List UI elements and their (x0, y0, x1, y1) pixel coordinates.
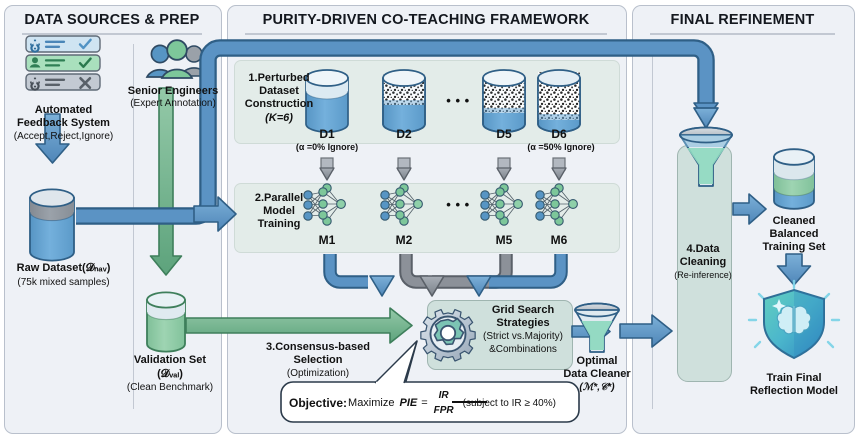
feedback-chip-1 (26, 36, 100, 52)
dataset-cylinder-d5 (483, 70, 525, 132)
cleaned-set-line3: Training Set (744, 241, 844, 254)
model-label-m1: M1 (297, 234, 357, 248)
dataset-cylinder-d6 (538, 70, 580, 132)
dataset-alpha-d6: (α =50% Ignore) (513, 142, 609, 152)
stage3-step: 3.Consensus-based (238, 341, 398, 354)
neural-net-icon-m5 (481, 184, 523, 225)
raw-dataset-sub: (75k mixed samples) (0, 277, 127, 289)
validation-set-cylinder-icon (147, 292, 185, 351)
data-cleaning-line2: Cleaning (670, 256, 736, 269)
data-cleaning-sub: (Re-inference) (664, 270, 742, 280)
stage3-line2: Selection (238, 354, 398, 367)
model-label-m2: M2 (374, 234, 434, 248)
objective-formula: Objective: Maximize PIE = IR FPR (subjec… (289, 390, 575, 416)
diagram-root: DATA SOURCES & PREP PURITY-DRIVEN CO-TEA… (0, 0, 857, 437)
dataset-alpha-d1: (α =0% Ignore) (279, 142, 375, 152)
model-ellipsis: • • • (434, 197, 482, 212)
feedback-chip-3 (26, 74, 100, 90)
objective-verb: Maximize (348, 397, 394, 409)
objective-constraint: (subject to IR ≥ 40%) (463, 398, 556, 409)
final-model-line1: Train Final (734, 372, 854, 385)
feedback-system-title: Automated (6, 104, 121, 117)
arrow-funnel-to-cleaning (620, 315, 672, 347)
validation-set-sub: (Clean Benchmark) (114, 382, 226, 394)
stage1-param: (K=6) (236, 112, 322, 125)
model-label-m5: M5 (474, 234, 534, 248)
feedback-system-sub: (Accept,Reject,Ignore) (0, 131, 127, 143)
people-group-icon (147, 40, 207, 78)
neural-net-icon-m6 (536, 184, 578, 225)
optimal-cleaner-title-2: Data Cleaner (549, 368, 645, 381)
feedback-system-title-2: Feedback System (0, 117, 127, 130)
objective-numerator: IR (439, 391, 449, 403)
feedback-chip-2 (26, 55, 100, 71)
objective-denominator: FPR (434, 403, 454, 416)
arrow-validation-to-consensus (186, 308, 412, 343)
objective-equals: = (421, 397, 427, 409)
raw-dataset-cylinder-icon (30, 189, 74, 260)
model-label-m6: M6 (529, 234, 589, 248)
objective-metric: PIE (399, 397, 417, 409)
cleaned-set-line1: Cleaned (744, 215, 844, 228)
person-icon (32, 57, 38, 63)
senior-engineers-sub: (Expert Annotation) (118, 98, 228, 110)
stage3-sub: (Optimization) (238, 368, 398, 380)
final-model-line2: Reflection Model (730, 385, 857, 398)
dataset-cylinder-d2 (383, 70, 425, 132)
dataset-label-d2: D2 (374, 128, 434, 142)
raw-dataset-title-text: Raw Dataset(𝓓ₙₐᵥ) (17, 262, 111, 274)
dataset-label-d1: D1 (297, 128, 357, 142)
gear-icon-consensus (421, 310, 475, 361)
stage1-step: 1.Perturbed (236, 72, 322, 85)
connectors-datasets-to-models (320, 158, 566, 180)
cleaned-set-cylinder-icon (774, 149, 814, 209)
grid-search-sub: (Strict vs.Majority) (469, 331, 577, 343)
arrows-models-to-consensus (330, 254, 561, 296)
grid-search-title: Grid Search (475, 304, 571, 317)
neural-net-icon-m2 (381, 184, 423, 225)
optimal-cleaner-title: Optimal (551, 355, 643, 368)
objective-label: Objective: (289, 396, 347, 410)
dataset-label-d5: D5 (474, 128, 534, 142)
raw-dataset-title: Raw Dataset(𝓓ₙₐᵥ) (0, 262, 127, 275)
stage2-step: 2.Parallel (236, 192, 322, 205)
dataset-label-d6: D6 (529, 128, 589, 142)
grid-search-title-2: Strategies (475, 317, 571, 330)
stage1-line3: Construction (233, 98, 325, 111)
arrow-engineers-to-validation (151, 88, 182, 275)
brain-shield-icon (749, 281, 839, 358)
cleaned-set-line2: Balanced (744, 228, 844, 241)
stage2-line3: Training (236, 218, 322, 231)
stage2-line2: Model (236, 205, 322, 218)
grid-search-sub-2: &Combinations (469, 344, 577, 356)
data-cleaning-step: 4.Data (670, 243, 736, 256)
stage1-line2: Dataset (236, 85, 322, 98)
funnel-icon-data-cleaning (680, 128, 732, 187)
validation-set-title: Validation Set (116, 354, 224, 367)
objective-fraction: IR FPR (434, 391, 454, 416)
senior-engineers-title: Senior Engineers (118, 85, 228, 98)
dataset-ellipsis: • • • (434, 93, 482, 108)
validation-set-title-2: (𝓓ᵥₐₗ) (116, 368, 224, 381)
